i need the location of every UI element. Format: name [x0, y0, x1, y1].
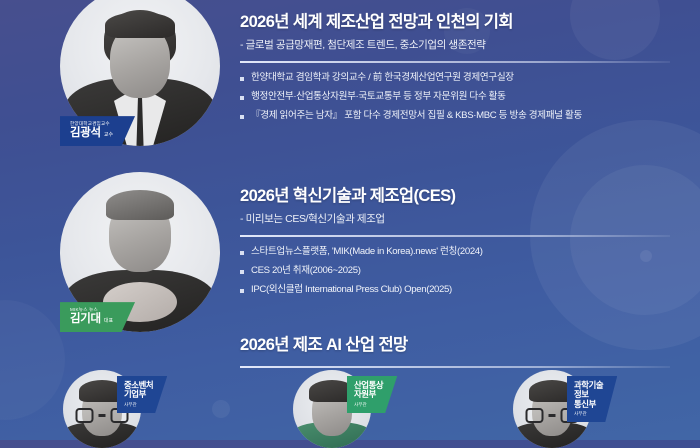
- bullet-text: 행정안전부·산업통상자원부·국토교통부 등 정부 자문위원 다수 활동: [251, 91, 506, 103]
- bullet-item: 행정안전부·산업통상자원부·국토교통부 등 정부 자문위원 다수 활동: [240, 91, 670, 103]
- session-divider-3: [240, 366, 670, 368]
- bullet-item: 스타트업뉴스플랫폼, 'MIK(Made in Korea).news' 런칭(…: [240, 246, 670, 258]
- session-bullets-1: 한양대학교 겸임학과 강의교수 / 前 한국경제산업연구원 경제연구실장 행정안…: [240, 72, 670, 122]
- ministry-role-3: 사무관: [574, 411, 603, 416]
- bullet-marker-icon: [240, 251, 244, 255]
- speaker-role-1: 교수: [104, 132, 113, 138]
- ministry-role-2: 사무관: [354, 402, 383, 407]
- bullet-item: CES 20년 취재(2006~2025): [240, 265, 670, 277]
- ministry-banner-3: 과학기술 정보 통신부 사무관: [567, 376, 617, 422]
- ministry-speaker-3: 과학기술 정보 통신부 사무관: [505, 370, 625, 440]
- bullet-text: IPC(외신클럽 International Press Club) Open(…: [251, 284, 452, 296]
- ministry-role-1: 사무관: [124, 402, 153, 407]
- ministry-speaker-1: 중소벤처 기업부 사무관: [55, 370, 175, 440]
- ministry-banner-2: 산업통상 자원부 사무관: [347, 376, 397, 413]
- speaker-role-2: 대표: [104, 318, 113, 324]
- session-title-3: 2026년 제조 AI 산업 전망: [240, 331, 670, 355]
- session-subtitle-2: - 미리보는 CES/혁신기술과 제조업: [240, 211, 670, 226]
- decor-dot-b: [212, 400, 230, 418]
- bullet-marker-icon: [240, 115, 244, 119]
- bullet-item: 한양대학교 겸임학과 강의교수 / 前 한국경제산업연구원 경제연구실장: [240, 72, 670, 84]
- session-divider-1: [240, 61, 670, 63]
- session-block-1: 2026년 세계 제조산업 전망과 인천의 기회 - 글로벌 공급망재편, 첨단…: [240, 8, 670, 129]
- bullet-text: 『경제 읽어주는 남자』 포함 다수 경제전망서 집필 & KBS·MBC 등 …: [251, 110, 582, 122]
- session-bullets-2: 스타트업뉴스플랫폼, 'MIK(Made in Korea).news' 런칭(…: [240, 246, 670, 296]
- poster-canvas: 한양대학교겸임교수 김광석교수 2026년 세계 제조산업 전망과 인천의 기회…: [0, 0, 700, 440]
- session-block-3: 2026년 제조 AI 산업 전망: [240, 331, 670, 368]
- session-title-2: 2026년 혁신기술과 제조업(CES): [240, 182, 670, 206]
- speaker-name-1: 김광석: [70, 127, 101, 139]
- bullet-item: 『경제 읽어주는 남자』 포함 다수 경제전망서 집필 & KBS·MBC 등 …: [240, 110, 670, 122]
- bullet-marker-icon: [240, 77, 244, 81]
- speaker-org-1: 한양대학교겸임교수: [70, 122, 113, 127]
- speaker-name-2: 김기대: [70, 313, 101, 325]
- ministry-banner-1: 중소벤처 기업부 사무관: [117, 376, 167, 413]
- ministry-speaker-2: 산업통상 자원부 사무관: [285, 370, 405, 440]
- bullet-marker-icon: [240, 270, 244, 274]
- bullet-text: 한양대학교 겸임학과 강의교수 / 前 한국경제산업연구원 경제연구실장: [251, 72, 514, 84]
- bullet-marker-icon: [240, 289, 244, 293]
- speaker-photo-1: 한양대학교겸임교수 김광석교수: [60, 0, 220, 146]
- session-block-2: 2026년 혁신기술과 제조업(CES) - 미리보는 CES/혁신기술과 제조…: [240, 182, 670, 303]
- bullet-text: CES 20년 취재(2006~2025): [251, 265, 361, 277]
- ministry-label-line2: 기업부: [124, 390, 153, 399]
- session-subtitle-1: - 글로벌 공급망재편, 첨단제조 트렌드, 중소기업의 생존전략: [240, 37, 670, 52]
- bullet-item: IPC(외신클럽 International Press Club) Open(…: [240, 284, 670, 296]
- ministry-label-line2: 자원부: [354, 390, 383, 399]
- bullet-text: 스타트업뉴스플랫폼, 'MIK(Made in Korea).news' 런칭(…: [251, 246, 483, 258]
- speaker-org-2: MIK뉴스 뉴스: [70, 308, 113, 313]
- session-title-1: 2026년 세계 제조산업 전망과 인천의 기회: [240, 8, 670, 32]
- speaker-photo-2: MIK뉴스 뉴스 김기대대표: [60, 172, 220, 332]
- bullet-marker-icon: [240, 96, 244, 100]
- ministry-label-line3: 통신부: [574, 400, 603, 409]
- session-divider-2: [240, 235, 670, 237]
